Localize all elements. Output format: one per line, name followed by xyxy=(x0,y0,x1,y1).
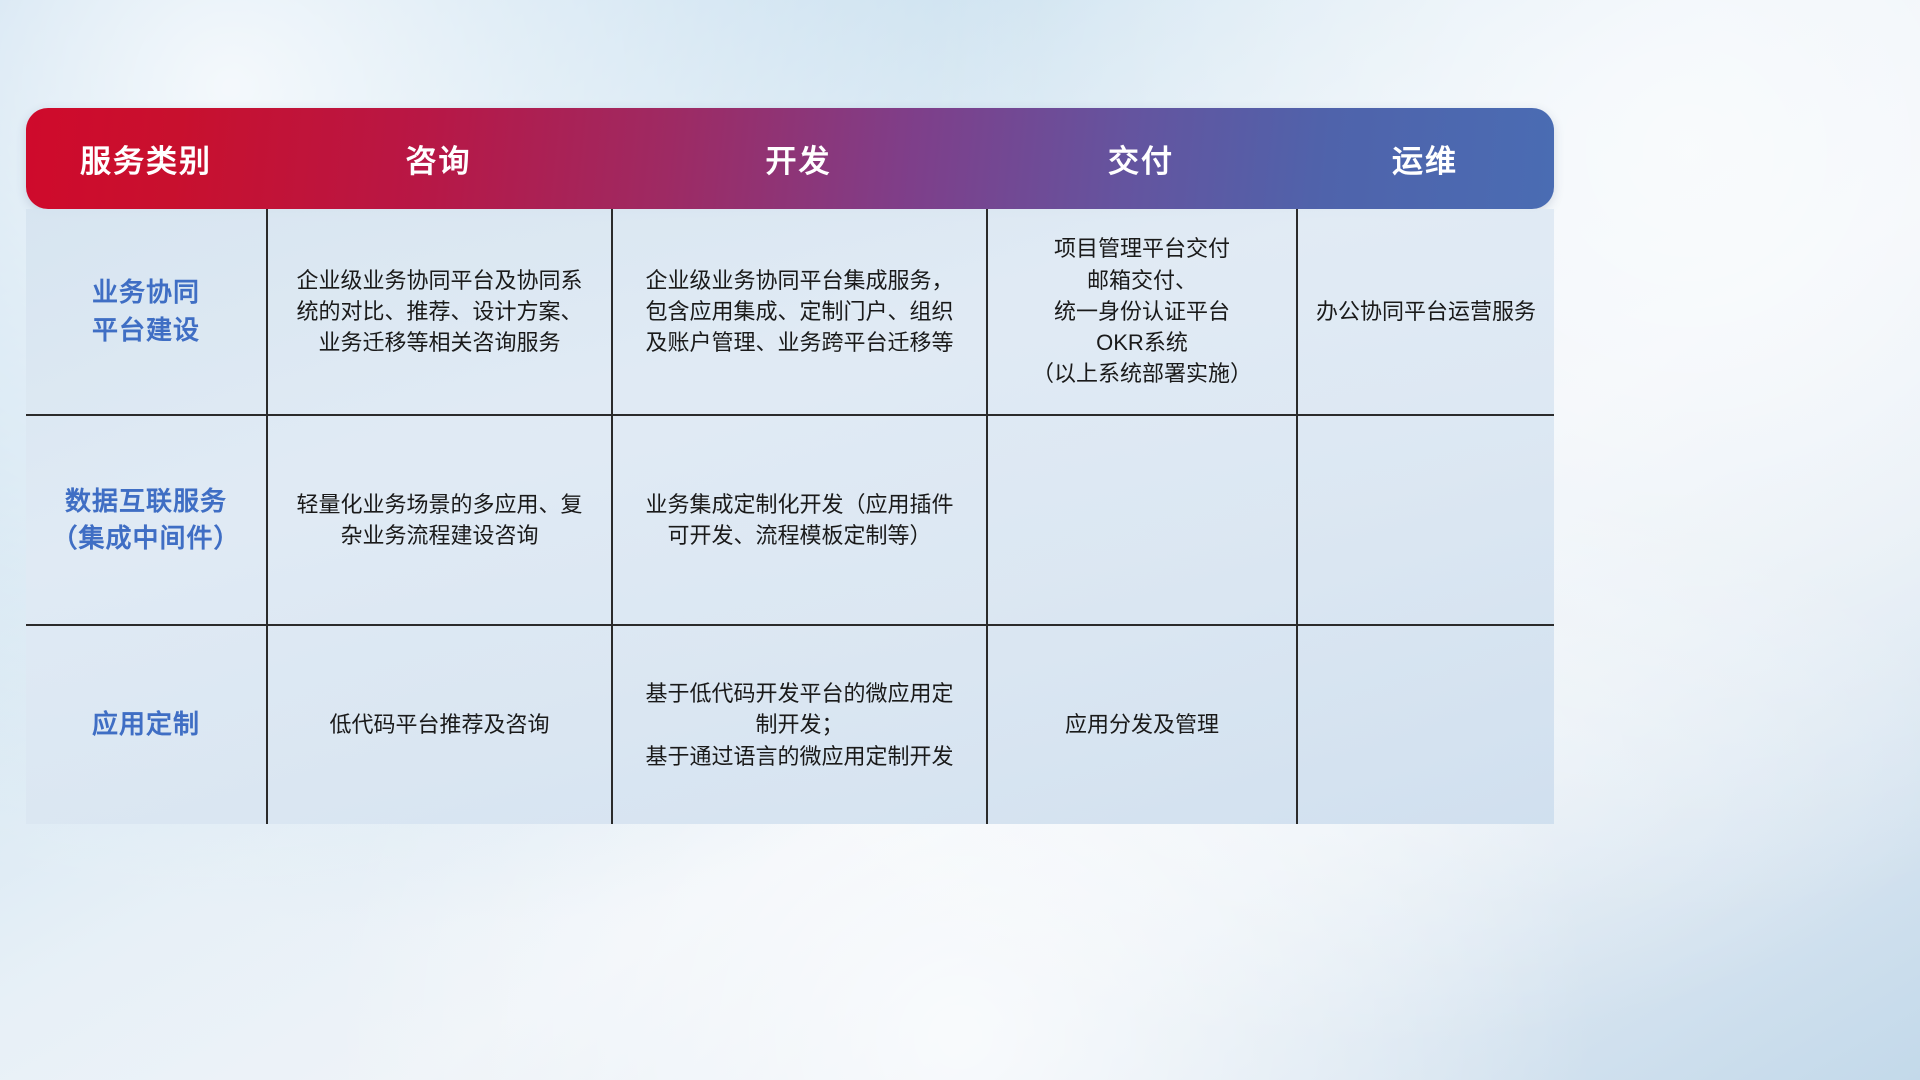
cell-delivery: 应用分发及管理 xyxy=(986,626,1296,824)
cell-consulting: 轻量化业务场景的多应用、复 杂业务流程建设咨询 xyxy=(266,416,611,624)
table-row: 应用定制 低代码平台推荐及咨询 基于低代码开发平台的微应用定 制开发； 基于通过… xyxy=(26,624,1554,824)
service-matrix-table: 服务类别 咨询 开发 交付 运维 业务协同 平台建设 企业级业务协同平台及协同系… xyxy=(26,108,1554,824)
cell-delivery: 项目管理平台交付 邮箱交付、 统一身份认证平台 OKR系统 （以上系统部署实施） xyxy=(986,209,1296,414)
cell-development: 业务集成定制化开发（应用插件 可开发、流程模板定制等） xyxy=(611,416,986,624)
column-header-development: 开发 xyxy=(611,108,986,209)
cell-development: 企业级业务协同平台集成服务， 包含应用集成、定制门户、组织 及账户管理、业务跨平… xyxy=(611,209,986,414)
row-category-label: 应用定制 xyxy=(26,626,266,824)
row-category-label: 数据互联服务 （集成中间件） xyxy=(26,416,266,624)
cell-operations xyxy=(1296,416,1554,624)
column-header-delivery: 交付 xyxy=(986,108,1296,209)
table-header-row: 服务类别 咨询 开发 交付 运维 xyxy=(26,108,1554,209)
cell-consulting: 低代码平台推荐及咨询 xyxy=(266,626,611,824)
cell-delivery xyxy=(986,416,1296,624)
column-header-operations: 运维 xyxy=(1296,108,1554,209)
table-row: 数据互联服务 （集成中间件） 轻量化业务场景的多应用、复 杂业务流程建设咨询 业… xyxy=(26,414,1554,624)
column-header-category: 服务类别 xyxy=(26,108,266,209)
page-background: 服务类别 咨询 开发 交付 运维 业务协同 平台建设 企业级业务协同平台及协同系… xyxy=(0,0,1920,1080)
row-category-label: 业务协同 平台建设 xyxy=(26,209,266,414)
cell-consulting: 企业级业务协同平台及协同系 统的对比、推荐、设计方案、 业务迁移等相关咨询服务 xyxy=(266,209,611,414)
cell-operations xyxy=(1296,626,1554,824)
cell-development: 基于低代码开发平台的微应用定 制开发； 基于通过语言的微应用定制开发 xyxy=(611,626,986,824)
column-header-consulting: 咨询 xyxy=(266,108,611,209)
table-row: 业务协同 平台建设 企业级业务协同平台及协同系 统的对比、推荐、设计方案、 业务… xyxy=(26,209,1554,414)
cell-operations: 办公协同平台运营服务 xyxy=(1296,209,1554,414)
table-body: 业务协同 平台建设 企业级业务协同平台及协同系 统的对比、推荐、设计方案、 业务… xyxy=(26,209,1554,824)
